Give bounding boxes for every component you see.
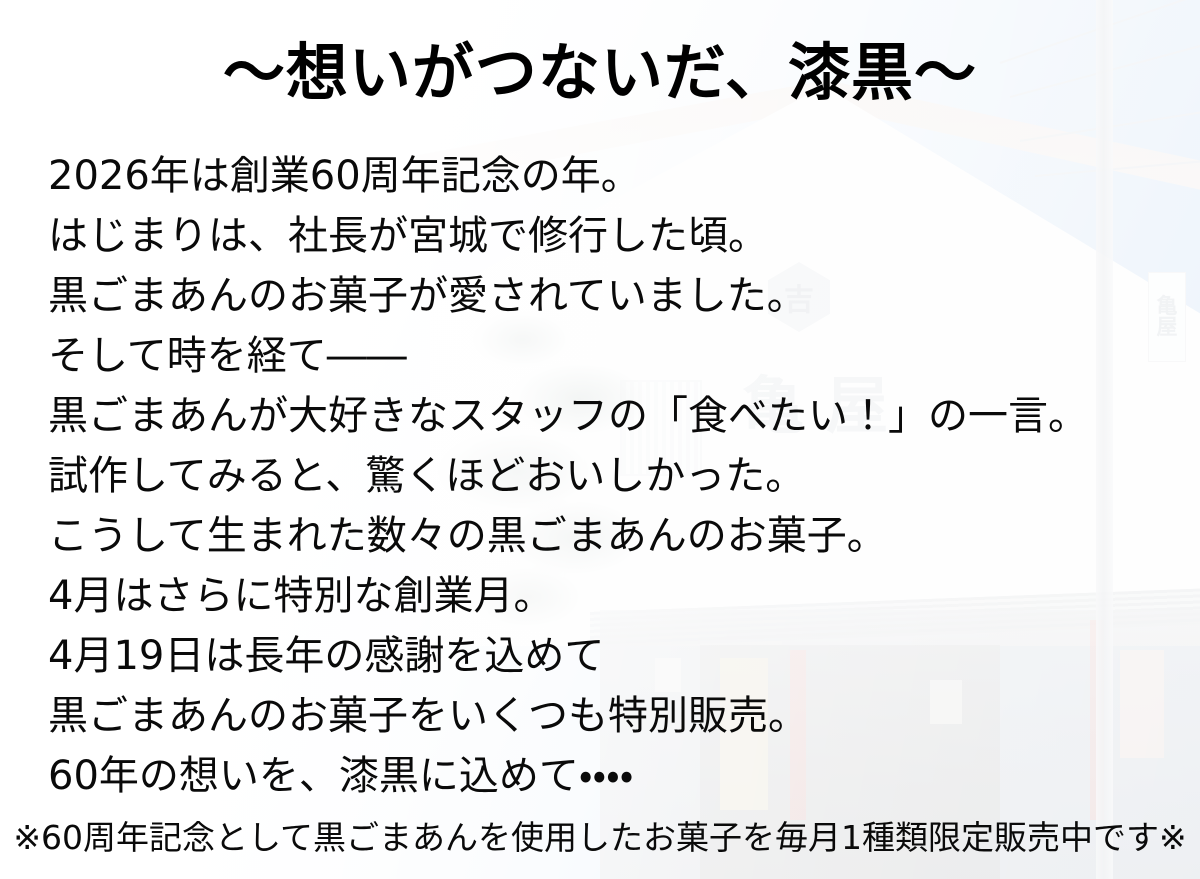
footnote-text: ※60周年記念として黒ごまあんを使用したお菓子を毎月1種類限定販売中です※ bbox=[0, 811, 1200, 859]
story-line: 2026年は創業60周年記念の年。 bbox=[48, 146, 1152, 206]
banner-content: 〜想いがつないだ、漆黒〜 2026年は創業60周年記念の年。 はじまりは、社長が… bbox=[0, 0, 1200, 879]
story-line: 黒ごまあんのお菓子が愛されていました。 bbox=[48, 266, 1152, 326]
promotional-banner: 吉 亀屋 亀 屋 〜想いがつないだ、漆黒〜 2026年は創業60周年記念の年。 … bbox=[0, 0, 1200, 879]
story-line: 黒ごまあんのお菓子をいくつも特別販売。 bbox=[48, 686, 1152, 746]
story-text: 2026年は創業60周年記念の年。 はじまりは、社長が宮城で修行した頃。 黒ごま… bbox=[48, 146, 1152, 806]
story-line: 試作してみると、驚くほどおいしかった。 bbox=[48, 446, 1152, 506]
story-line: 4月はさらに特別な創業月。 bbox=[48, 566, 1152, 626]
story-line: はじまりは、社長が宮城で修行した頃。 bbox=[48, 206, 1152, 266]
page-title: 〜想いがつないだ、漆黒〜 bbox=[0, 22, 1200, 112]
story-line: 黒ごまあんが大好きなスタッフの「食べたい！」の一言。 bbox=[48, 386, 1152, 446]
story-line: そして時を経て―― bbox=[48, 326, 1152, 386]
story-line: 60年の想いを、漆黒に込めて・・・・ bbox=[48, 746, 1152, 806]
story-line: 4月19日は長年の感謝を込めて bbox=[48, 626, 1152, 686]
story-line: こうして生まれた数々の黒ごまあんのお菓子。 bbox=[48, 506, 1152, 566]
